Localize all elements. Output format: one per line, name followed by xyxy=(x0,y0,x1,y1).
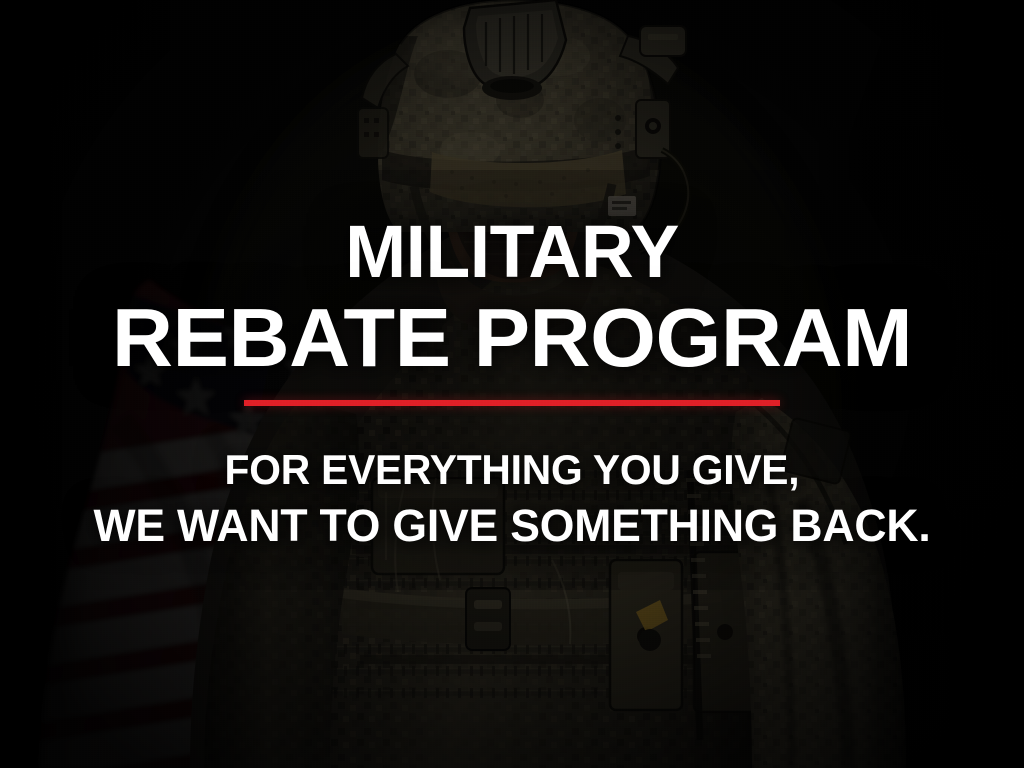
soldier-photograph xyxy=(0,0,1024,768)
military-rebate-poster: MILITARY REBATE PROGRAM FOR EVERYTHING Y… xyxy=(0,0,1024,768)
